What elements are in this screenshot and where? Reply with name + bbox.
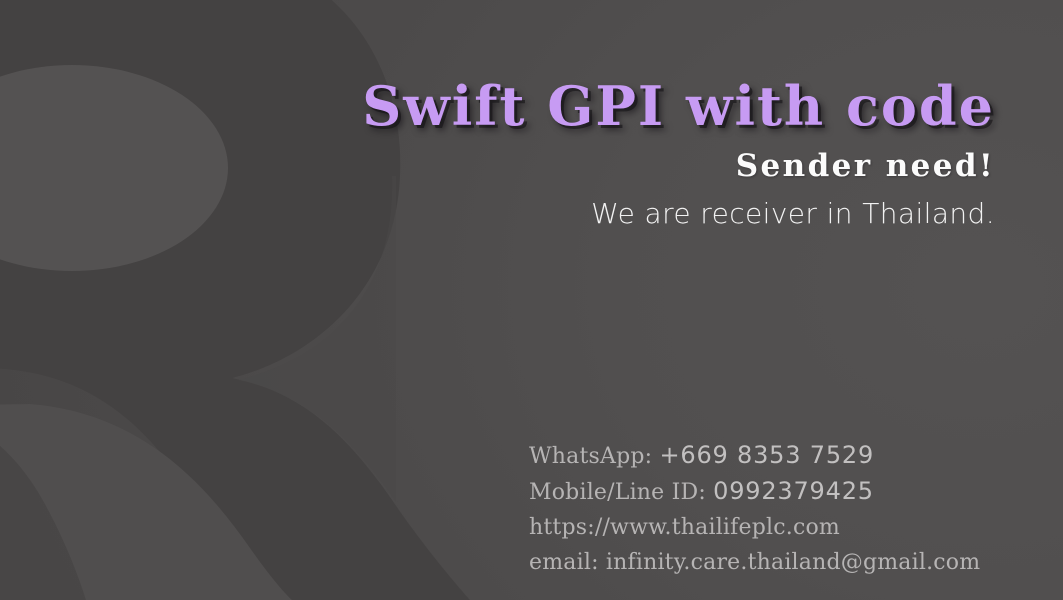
contact-block: WhatsApp: +669 8353 7529 Mobile/Line ID:… xyxy=(529,438,1029,580)
contact-line-email: email: infinity.care.thailand@gmail.com xyxy=(529,545,1029,580)
contact-value-mobile[interactable]: 0992379425 xyxy=(713,477,874,505)
headline-subtitle: Sender need! xyxy=(235,149,995,183)
contact-value-email[interactable]: infinity.care.thailand@gmail.com xyxy=(606,550,980,575)
contact-value-website[interactable]: https://www.thailifeplc.com xyxy=(529,515,840,540)
contact-label-whatsapp: WhatsApp: xyxy=(529,444,652,469)
page-title: Swift GPI with code xyxy=(235,78,995,134)
contact-line-mobile: Mobile/Line ID: 0992379425 xyxy=(529,474,1029,510)
contact-label-mobile: Mobile/Line ID: xyxy=(529,480,706,505)
contact-line-whatsapp: WhatsApp: +669 8353 7529 xyxy=(529,438,1029,474)
slide-canvas: Swift GPI with code Sender need! We are … xyxy=(0,0,1063,600)
headline-block: Swift GPI with code Sender need! We are … xyxy=(235,78,995,230)
contact-value-whatsapp[interactable]: +669 8353 7529 xyxy=(660,441,875,469)
headline-tagline: We are receiver in Thailand. xyxy=(235,199,995,230)
contact-line-website[interactable]: https://www.thailifeplc.com xyxy=(529,510,1029,545)
contact-label-email: email: xyxy=(529,550,599,575)
